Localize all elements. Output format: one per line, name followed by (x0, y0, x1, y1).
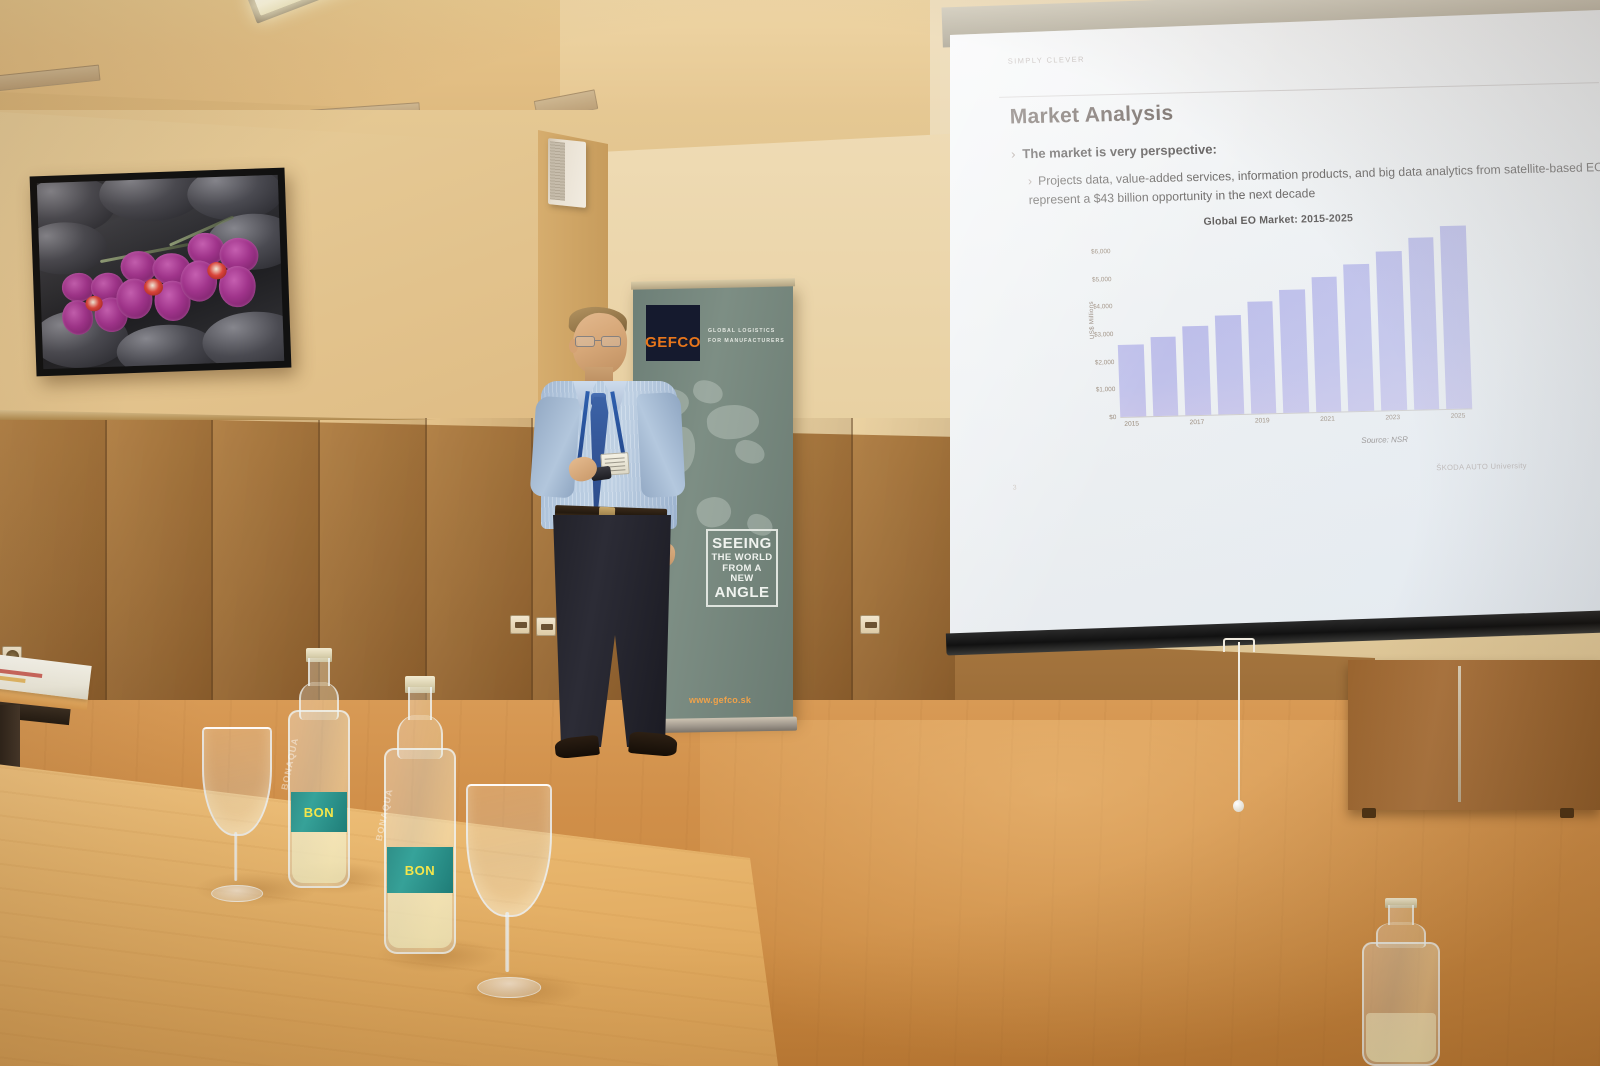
gefco-tagline: GLOBAL LOGISTICS FOR MANUFACTURERS (708, 327, 788, 346)
presenter-right-sleeve (636, 392, 685, 498)
slogan-line-3: FROM A NEW (710, 564, 774, 583)
y-tick-label: $6,000 (1091, 248, 1111, 255)
slogan-line-1: SEEING (712, 536, 772, 551)
power-outlet[interactable] (860, 615, 880, 634)
y-tick-label: $0 (1109, 414, 1116, 421)
x-tick-label: 2015 (1124, 420, 1139, 427)
bottle-label: BON (387, 847, 452, 893)
orchid-painting (30, 168, 292, 377)
slide-number: 3 (1013, 484, 1017, 491)
screen-cord-ball[interactable] (1233, 800, 1244, 812)
x-tick-label: 2023 (1385, 414, 1400, 421)
chevron-icon: › (1028, 174, 1033, 188)
chart-bar (1182, 326, 1211, 415)
chart-bar (1215, 315, 1244, 414)
bar-chart: US$ Millions $6,000$5,000$4,000$3,000$2,… (1108, 229, 1475, 443)
conference-room-photo: SIMPLY CLEVER Market Analysis ›The marke… (0, 0, 1600, 1066)
x-tick-label: 2025 (1451, 413, 1466, 420)
chart-bar (1376, 251, 1407, 411)
brand-tagline: SIMPLY CLEVER (1008, 55, 1085, 66)
y-tick-label: $3,000 (1094, 331, 1114, 338)
water-bottle: BONAQUA BON (288, 648, 350, 888)
slide-divider (999, 82, 1599, 98)
chart-bar (1247, 302, 1277, 414)
slide-title: Market Analysis (1009, 102, 1173, 130)
y-axis-ticks: $6,000$5,000$4,000$3,000$2,000$1,000$0 (1080, 238, 1116, 419)
water-bottle: BONAQUA BON (384, 676, 456, 954)
chart-bar (1150, 337, 1178, 417)
x-tick-label: 2021 (1320, 416, 1335, 423)
slide-footer: ŠKODA AUTO University (1436, 461, 1527, 472)
chart-bar (1408, 238, 1440, 410)
wine-glass (202, 727, 272, 902)
wine-glass (466, 784, 552, 998)
x-tick-label: 2019 (1255, 417, 1270, 424)
chart-bar (1279, 289, 1309, 413)
presenter-person (525, 305, 710, 780)
painting-canvas (37, 175, 284, 369)
bullet-primary-text: The market is very perspective: (1022, 142, 1217, 162)
bullet-secondary-text: Projects data, value-added services, inf… (1028, 160, 1600, 207)
gefco-slogan-box: SEEING THE WORLD FROM A NEW ANGLE (706, 529, 778, 607)
glasses-icon (575, 336, 625, 347)
water-bottle (1362, 898, 1440, 1066)
chart-bar (1118, 344, 1146, 417)
chart-title: Global EO Market: 2015-2025 (1203, 212, 1353, 228)
chart-bar (1344, 264, 1375, 411)
screen-pull-cord[interactable] (1238, 642, 1240, 802)
projection-screen: SIMPLY CLEVER Market Analysis ›The marke… (950, 10, 1600, 670)
chevron-icon: › (1011, 146, 1016, 161)
screen-surface: SIMPLY CLEVER Market Analysis ›The marke… (950, 10, 1600, 650)
slogan-line-4: ANGLE (715, 585, 770, 600)
wall-speaker (548, 138, 586, 208)
bottle-label-text: BON (405, 863, 435, 878)
y-tick-label: $4,000 (1093, 303, 1113, 310)
chart-bar (1311, 277, 1341, 412)
presentation-slide: SIMPLY CLEVER Market Analysis ›The marke… (950, 10, 1600, 650)
bullet-primary: ›The market is very perspective: (1011, 133, 1571, 162)
gefco-tagline-line2: FOR MANUFACTURERS (708, 337, 788, 347)
presenter-shoe (628, 731, 678, 757)
presenter-trousers (553, 515, 671, 747)
bottle-label: BON (291, 792, 347, 832)
bullet-secondary: ›Projects data, value-added services, in… (1028, 157, 1600, 210)
wood-panel-group (0, 418, 960, 718)
bottle-label-text: BON (304, 805, 334, 820)
chart-bar (1440, 226, 1472, 409)
slogan-line-2: THE WORLD (711, 553, 772, 563)
chart-source: Source: NSR (1361, 435, 1408, 445)
y-tick-label: $5,000 (1092, 276, 1112, 283)
wooden-cabinet (1348, 660, 1600, 810)
y-tick-label: $1,000 (1096, 386, 1116, 393)
x-tick-label: 2017 (1190, 419, 1205, 426)
presenter-left-sleeve (530, 396, 581, 499)
chart-plot-area (1114, 229, 1472, 417)
y-tick-label: $2,000 (1095, 359, 1115, 366)
gefco-tagline-line1: GLOBAL LOGISTICS (708, 327, 788, 337)
